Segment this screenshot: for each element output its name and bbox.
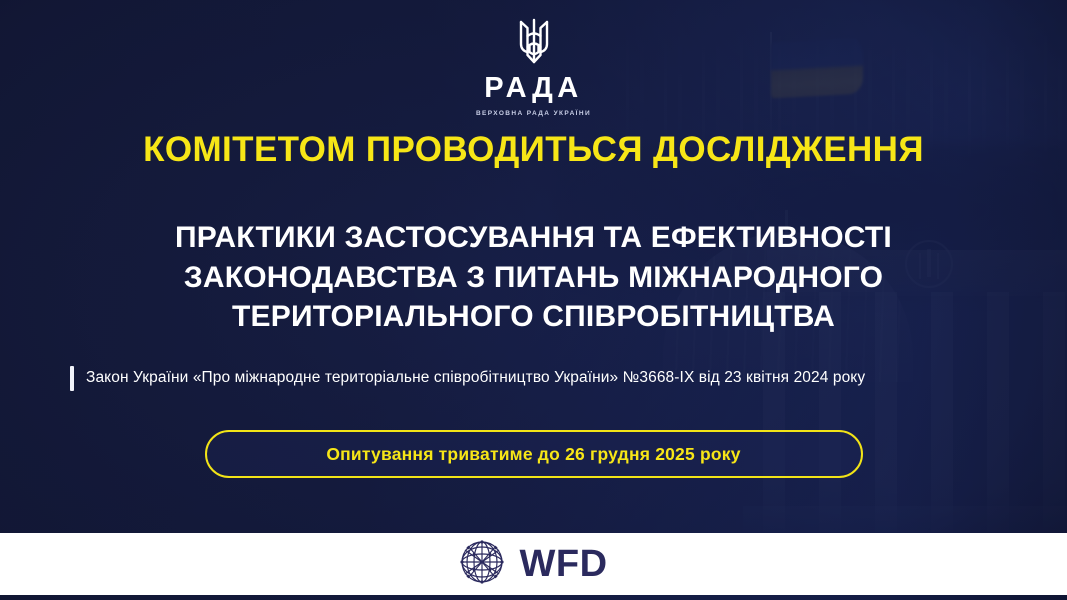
law-reference-accent-bar — [70, 366, 74, 391]
wfd-wordmark: WFD — [519, 545, 607, 583]
page-title: ПРАКТИКИ ЗАСТОСУВАННЯ ТА ЕФЕКТИВНОСТІ ЗА… — [0, 218, 1067, 337]
page-title-line-1: ПРАКТИКИ ЗАСТОСУВАННЯ ТА ЕФЕКТИВНОСТІ — [0, 218, 1067, 258]
deadline-pill-row: Опитування триватиме до 26 грудня 2025 р… — [0, 430, 1067, 478]
banner-content: РАДА ВЕРХОВНА РАДА УКРАЇНИ КОМІТЕТОМ ПРО… — [0, 0, 1067, 600]
rada-wordmark: РАДА — [484, 74, 582, 103]
kicker-heading: КОМІТЕТОМ ПРОВОДИТЬСЯ ДОСЛІДЖЕННЯ — [0, 131, 1067, 170]
page-title-line-2: ЗАКОНОДАВСТВА З ПИТАНЬ МІЖНАРОДНОГО — [0, 258, 1067, 298]
law-reference: Закон України «Про міжнародне територіал… — [70, 366, 1007, 391]
page-title-line-3: ТЕРИТОРІАЛЬНОГО СПІВРОБІТНИЦТВА — [0, 297, 1067, 337]
rada-emblem-block: РАДА ВЕРХОВНА РАДА УКРАЇНИ — [0, 14, 1067, 118]
rada-subtitle: ВЕРХОВНА РАДА УКРАЇНИ — [476, 109, 591, 118]
footer-bar: WFD — [0, 533, 1067, 595]
law-reference-text: Закон України «Про міжнародне територіал… — [86, 368, 865, 389]
survey-announcement-banner: РАДА ВЕРХОВНА РАДА УКРАЇНИ КОМІТЕТОМ ПРО… — [0, 0, 1067, 600]
wfd-globe-icon — [459, 539, 505, 590]
deadline-badge: Опитування триватиме до 26 грудня 2025 р… — [205, 430, 863, 478]
ukrainian-trident-icon — [505, 14, 563, 70]
